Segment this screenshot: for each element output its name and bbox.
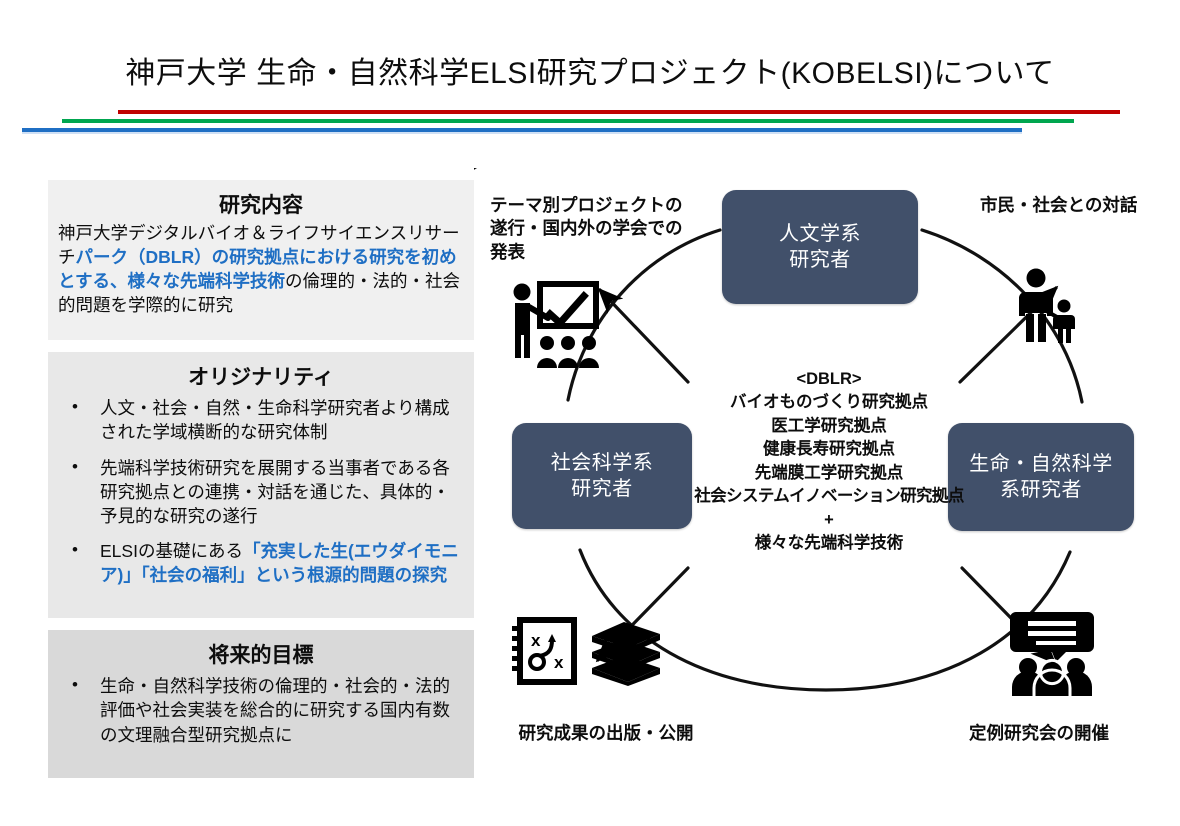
- book-stack-icon: [592, 622, 660, 686]
- svg-text:x: x: [531, 631, 541, 650]
- originality-bullet3-prefix: ELSIの基礎にある: [100, 541, 243, 561]
- node-social-science-researcher[interactable]: 社会科学系 研究者: [512, 423, 692, 529]
- callout-theme-projects: テーマ別プロジェクトの遂行・国内外の学会での発表: [490, 194, 690, 264]
- strategy-notebook-icon: x x: [512, 620, 574, 682]
- list-item: ELSIの基礎にある「充実した生(エウダイモニア)」「社会の福利」という根源的問…: [58, 539, 464, 587]
- panel-research-body: 神戸大学デジタルバイオ＆ライフサイエンスリサーチパーク（DBLR）の研究拠点にお…: [58, 222, 464, 317]
- center-dblr-line: 様々な先端科学技術: [674, 532, 984, 555]
- panel-future-goal: 将来的目標 生命・自然科学技術の倫理的・社会的・法的評価や社会実装を総合的に研究…: [48, 630, 474, 778]
- center-dblr-line: 健康長寿研究拠点: [674, 438, 984, 461]
- divider-rule-red: [118, 110, 1120, 114]
- future-bullet-list: 生命・自然科学技術の倫理的・社会的・法的評価や社会実装を総合的に研究する国内有数…: [58, 674, 464, 746]
- list-item: 生命・自然科学技術の倫理的・社会的・法的評価や社会実装を総合的に研究する国内有数…: [58, 674, 464, 746]
- panel-research-heading: 研究内容: [58, 192, 464, 220]
- center-dblr-line: 社会システムイノベーション研究拠点: [674, 485, 984, 508]
- speech-bubble-audience-icon: [1006, 608, 1098, 696]
- center-dblr-line: 先端膜工学研究拠点: [674, 462, 984, 485]
- callout-regular-meeting: 定例研究会の開催: [924, 722, 1154, 745]
- callout-citizen-dialogue: 市民・社会との対話: [980, 194, 1140, 217]
- center-dblr-title: <DBLR>: [674, 368, 984, 391]
- panel-originality-heading: オリジナリティ: [58, 364, 464, 392]
- callout-publication: 研究成果の出版・公開: [486, 722, 726, 745]
- cycle-diagram: 人文学系 研究者 社会科学系 研究者 生命・自然科学 系研究者 <DBLR> バ…: [474, 168, 1180, 788]
- center-dblr-block: <DBLR> バイオものづくり研究拠点 医工学研究拠点 健康長寿研究拠点 先端膜…: [674, 368, 984, 555]
- list-item: 先端科学技術研究を展開する当事者である各研究拠点との連携・対話を通じた、具体的・…: [58, 456, 464, 528]
- svg-text:x: x: [554, 653, 564, 672]
- originality-bullet-list: 人文・社会・自然・生命科学研究者より構成された学域横断的な研究体制 先端科学技術…: [58, 396, 464, 587]
- slide-root: 神戸大学 生命・自然科学ELSI研究プロジェクト(KOBELSI)について 研究…: [0, 0, 1180, 826]
- node-life-label: 生命・自然科学 系研究者: [969, 451, 1113, 503]
- center-dblr-line: バイオものづくり研究拠点: [674, 391, 984, 414]
- center-dblr-plus: +: [674, 509, 984, 532]
- panel-future-heading: 将来的目標: [58, 642, 464, 670]
- divider-rule-green: [62, 119, 1074, 123]
- list-item: 人文・社会・自然・生命科学研究者より構成された学域横断的な研究体制: [58, 396, 464, 444]
- page-title: 神戸大学 生命・自然科学ELSI研究プロジェクト(KOBELSI)について: [0, 48, 1180, 92]
- adult-child-icon: [1016, 268, 1078, 344]
- panel-originality: オリジナリティ 人文・社会・自然・生命科学研究者より構成された学域横断的な研究体…: [48, 352, 474, 618]
- node-humanities-researcher[interactable]: 人文学系 研究者: [722, 190, 918, 304]
- panel-research-content: 研究内容 神戸大学デジタルバイオ＆ライフサイエンスリサーチパーク（DBLR）の研…: [48, 180, 474, 340]
- divider-rule-blue: [22, 128, 1022, 132]
- presenter-whiteboard-icon: [502, 276, 606, 368]
- title-divider-rules: [0, 110, 1180, 138]
- center-dblr-line: 医工学研究拠点: [674, 415, 984, 438]
- node-social-label: 社会科学系 研究者: [551, 450, 654, 502]
- publication-icon-group: x x: [506, 614, 666, 700]
- node-humanities-label: 人文学系 研究者: [779, 221, 861, 273]
